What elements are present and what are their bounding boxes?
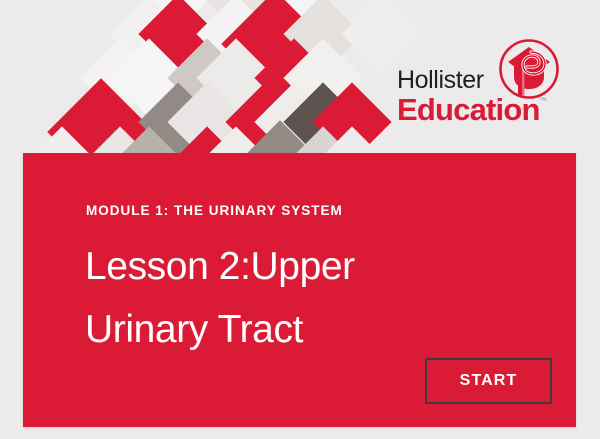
module-label: MODULE 1: THE URINARY SYSTEM (86, 203, 343, 218)
graduation-cap-in-circle-icon (497, 38, 561, 106)
page-title-line-2: Urinary Tract (85, 298, 505, 361)
start-button-label: START (460, 372, 518, 390)
brand-name-hollister: Hollister (397, 66, 484, 95)
content-panel: MODULE 1: THE URINARY SYSTEM Lesson 2:Up… (23, 153, 576, 427)
page-title-line-1: Lesson 2:Upper (85, 235, 505, 298)
page-title: Lesson 2:Upper Urinary Tract (85, 235, 505, 361)
lesson-title-slide: Hollister Education ™ MODULE 1: THE URIN… (0, 0, 600, 439)
brand-logo: Hollister Education ™ (397, 40, 572, 140)
start-button[interactable]: START (425, 358, 552, 404)
